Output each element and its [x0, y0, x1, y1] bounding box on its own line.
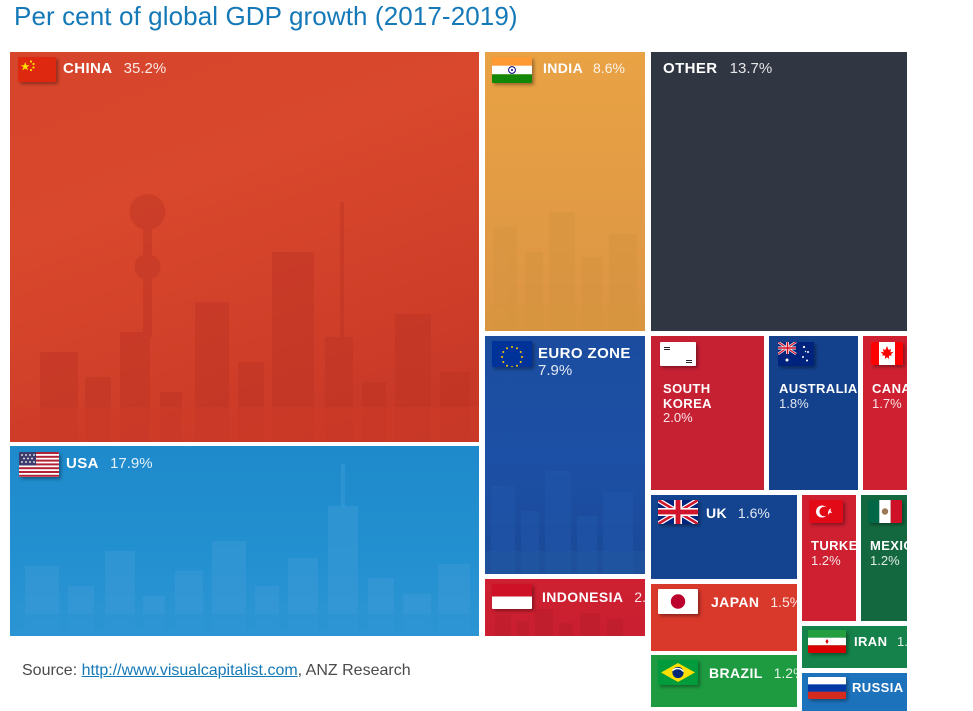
tile-name-australia: AUSTRALIA: [779, 382, 857, 397]
treemap-label-canada: CANADA 1.7%: [872, 382, 907, 411]
treemap-tile-russia[interactable]: RUSSIA 1.0%: [802, 673, 907, 711]
usa-flag: [19, 452, 59, 477]
treemap-tile-south-korea[interactable]: SOUTH KOREA 2.0%: [651, 336, 764, 490]
treemap-tile-other[interactable]: OTHER 13.7%: [651, 52, 907, 331]
source-line: Source: http://www.visualcapitalist.com,…: [22, 662, 411, 680]
tile-name-uk: UK: [706, 505, 727, 521]
china-skyline-texture: [10, 52, 479, 442]
tile-name-turkey: TURKEY: [811, 539, 856, 554]
tile-name-russia: RUSSIA: [852, 680, 904, 695]
tile-name-india: INDIA: [543, 60, 583, 76]
china-flag: [18, 57, 56, 82]
tile-name-japan: JAPAN: [711, 594, 759, 610]
tile-name-indonesia: INDONESIA: [542, 589, 623, 605]
turkey-flag: [809, 500, 843, 523]
treemap-tile-japan[interactable]: JAPAN 1.5%: [651, 584, 797, 651]
tile-name-euro-zone: EURO ZONE: [538, 346, 642, 363]
tile-value-japan: 1.5%: [770, 594, 797, 610]
tile-name-south-korea: SOUTH KOREA: [663, 382, 759, 411]
treemap-tile-canada[interactable]: CANADA 1.7%: [863, 336, 907, 490]
tile-value-usa: 17.9%: [110, 455, 153, 472]
treemap-label-euro-zone: EURO ZONE 7.9%: [538, 346, 642, 380]
uk-flag: [658, 500, 698, 524]
canada-flag: [871, 342, 903, 365]
india-flag: [492, 57, 532, 83]
tile-name-usa: USA: [66, 455, 99, 472]
treemap-label-russia: RUSSIA 1.0%: [852, 681, 907, 696]
mexico-flag: [868, 500, 902, 523]
brazil-flag: [658, 660, 698, 685]
source-link[interactable]: http://www.visualcapitalist.com: [82, 662, 298, 679]
treemap-chart: CHINA 35.2%: [10, 52, 907, 636]
treemap-tile-usa[interactable]: USA 17.9%: [10, 446, 479, 636]
tile-value-china: 35.2%: [124, 60, 167, 77]
treemap-label-turkey: TURKEY 1.2%: [811, 539, 856, 568]
indonesia-flag: [492, 584, 532, 609]
treemap-label-china: CHINA 35.2%: [63, 61, 166, 78]
tile-value-canada: 1.7%: [872, 397, 907, 412]
treemap-tile-china[interactable]: CHINA 35.2%: [10, 52, 479, 442]
tile-value-iran: 1.0%: [897, 634, 907, 649]
tile-value-australia: 1.8%: [779, 397, 857, 412]
tile-value-uk: 1.6%: [738, 505, 770, 521]
tile-name-brazil: BRAZIL: [709, 665, 763, 681]
iran-flag: [808, 630, 846, 653]
treemap-tile-euro-zone[interactable]: EURO ZONE 7.9%: [485, 336, 645, 574]
source-suffix: , ANZ Research: [298, 662, 411, 679]
tile-value-turkey: 1.2%: [811, 554, 856, 569]
treemap-label-india: INDIA 8.6%: [543, 61, 625, 77]
treemap-label-south-korea: SOUTH KOREA 2.0%: [663, 382, 759, 426]
treemap-tile-indonesia[interactable]: INDONESIA 2.5%: [485, 579, 645, 636]
treemap-label-brazil: BRAZIL 1.2%: [709, 666, 797, 682]
treemap-label-usa: USA 17.9%: [66, 456, 153, 473]
treemap-label-other: OTHER 13.7%: [663, 61, 772, 78]
treemap-label-mexico: MEXICO 1.2%: [870, 539, 907, 568]
treemap-tile-brazil[interactable]: BRAZIL 1.2%: [651, 655, 797, 707]
treemap-tile-australia[interactable]: AUSTRALIA 1.8%: [769, 336, 858, 490]
source-prefix: Source:: [22, 662, 82, 679]
tile-value-brazil: 1.2%: [774, 665, 797, 681]
tile-value-other: 13.7%: [730, 60, 773, 77]
tile-name-iran: IRAN: [854, 634, 887, 649]
tile-value-mexico: 1.2%: [870, 554, 907, 569]
usa-skyline-texture: [10, 446, 479, 636]
south-korea-flag: [660, 342, 696, 366]
treemap-label-iran: IRAN 1.0%: [854, 635, 907, 650]
treemap-label-uk: UK 1.6%: [706, 506, 770, 522]
tile-name-canada: CANADA: [872, 382, 907, 397]
india-skyline-texture: [485, 52, 645, 331]
tile-value-india: 8.6%: [593, 60, 625, 76]
tile-name-china: CHINA: [63, 60, 113, 77]
australia-flag: [778, 342, 814, 366]
page-title: Per cent of global GDP growth (2017-2019…: [14, 1, 518, 32]
treemap-tile-india[interactable]: INDIA 8.6%: [485, 52, 645, 331]
treemap-tile-iran[interactable]: IRAN 1.0%: [802, 626, 907, 668]
japan-flag: [658, 589, 698, 614]
tile-name-other: OTHER: [663, 60, 718, 77]
treemap-label-australia: AUSTRALIA 1.8%: [779, 382, 857, 411]
treemap-label-indonesia: INDONESIA 2.5%: [542, 590, 645, 606]
tile-value-south-korea: 2.0%: [663, 411, 759, 426]
tile-name-mexico: MEXICO: [870, 539, 907, 554]
treemap-label-japan: JAPAN 1.5%: [711, 595, 797, 611]
treemap-tile-mexico[interactable]: MEXICO 1.2%: [861, 495, 907, 621]
eu-flag: [492, 341, 532, 367]
tile-value-indonesia: 2.5%: [634, 589, 645, 605]
treemap-tile-turkey[interactable]: TURKEY 1.2%: [802, 495, 856, 621]
russia-flag: [808, 677, 846, 699]
tile-value-euro-zone: 7.9%: [538, 363, 642, 380]
treemap-tile-uk[interactable]: UK 1.6%: [651, 495, 797, 579]
